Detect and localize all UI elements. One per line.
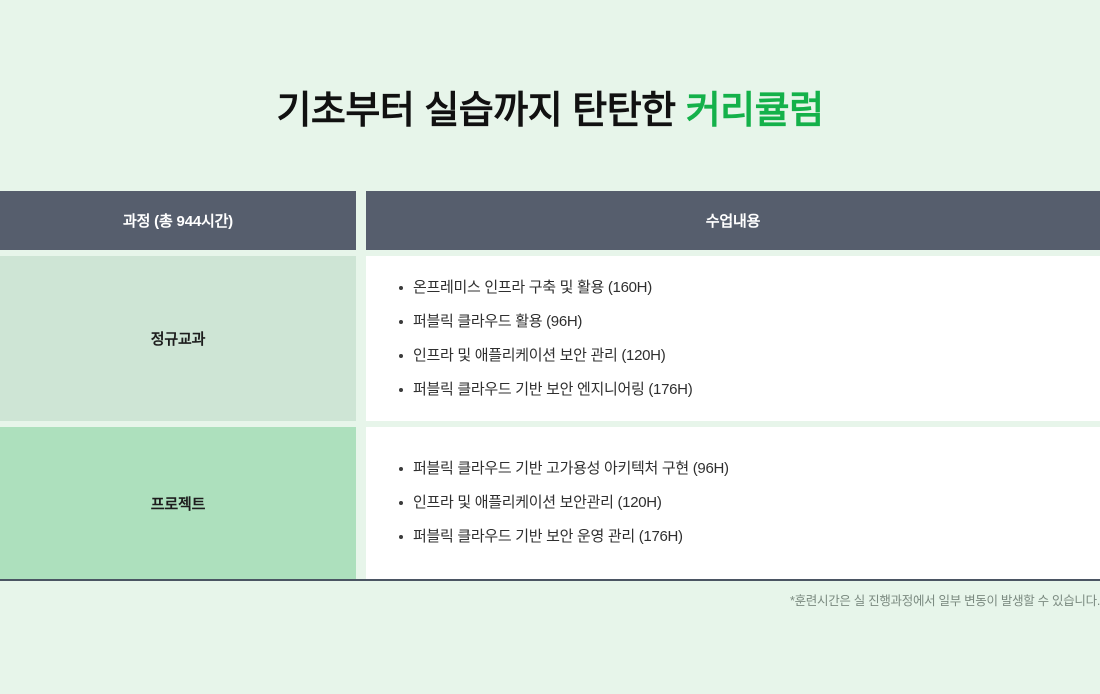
table-header-row: 과정 (총 944시간) 수업내용 [0, 191, 1100, 250]
list-item: 퍼블릭 클라우드 기반 고가용성 아키텍처 구현 (96H) [396, 452, 1100, 486]
list-item: 퍼블릭 클라우드 활용 (96H) [396, 305, 1100, 339]
curriculum-table: 과정 (총 944시간) 수업내용 정규교과 온프레미스 인프라 구축 및 활용… [0, 191, 1100, 581]
row-label-project: 프로젝트 [0, 427, 356, 579]
table-bottom-divider [0, 579, 1100, 581]
page-title-plain: 기초부터 실습까지 탄탄한 [276, 90, 685, 132]
curriculum-page: 기초부터 실습까지 탄탄한 커리큘럼 과정 (총 944시간) 수업내용 정규교… [0, 0, 1100, 694]
row-label-regular: 정규교과 [0, 256, 356, 421]
table-header-content: 수업내용 [366, 191, 1100, 250]
footnote-text: *훈련시간은 실 진행과정에서 일부 변동이 발생할 수 있습니다. [0, 590, 1100, 609]
page-title-accent: 커리큘럼 [686, 90, 824, 132]
list-item: 인프라 및 애플리케이션 보안 관리 (120H) [396, 339, 1100, 373]
table-row: 정규교과 온프레미스 인프라 구축 및 활용 (160H) 퍼블릭 클라우드 활… [0, 256, 1100, 421]
row-content-project: 퍼블릭 클라우드 기반 고가용성 아키텍처 구현 (96H) 인프라 및 애플리… [366, 427, 1100, 579]
row-content-regular: 온프레미스 인프라 구축 및 활용 (160H) 퍼블릭 클라우드 활용 (96… [366, 256, 1100, 421]
page-title: 기초부터 실습까지 탄탄한 커리큘럼 [0, 88, 1100, 136]
list-item: 퍼블릭 클라우드 기반 보안 운영 관리 (176H) [396, 520, 1100, 554]
list-item: 온프레미스 인프라 구축 및 활용 (160H) [396, 271, 1100, 305]
list-item: 인프라 및 애플리케이션 보안관리 (120H) [396, 486, 1100, 520]
list-item: 퍼블릭 클라우드 기반 보안 엔지니어링 (176H) [396, 373, 1100, 407]
table-header-course: 과정 (총 944시간) [0, 191, 356, 250]
table-row: 프로젝트 퍼블릭 클라우드 기반 고가용성 아키텍처 구현 (96H) 인프라 … [0, 427, 1100, 579]
